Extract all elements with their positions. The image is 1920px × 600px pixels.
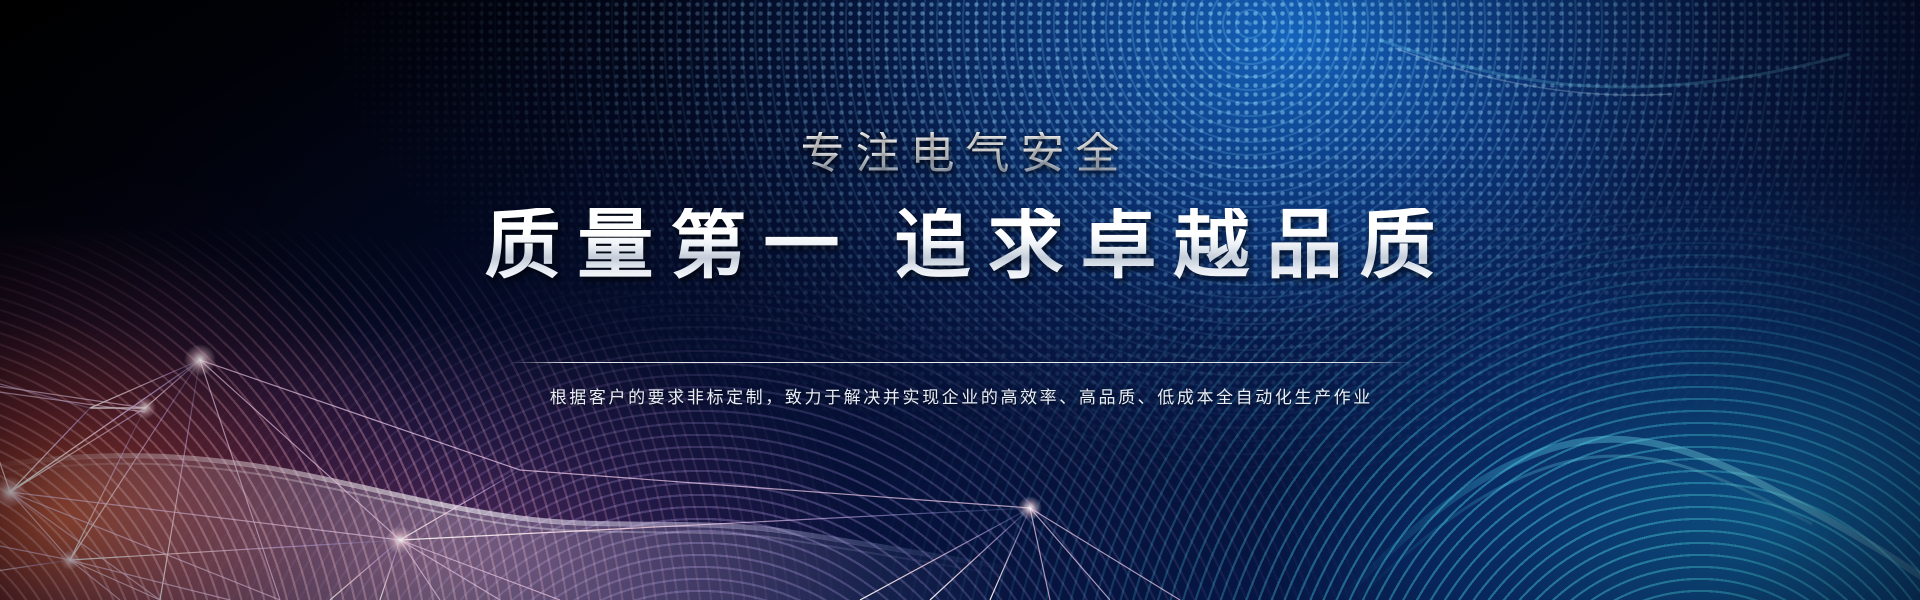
headline-divider	[512, 362, 1408, 363]
hero-banner: 专注电气安全 质量第一 追求卓越品质 根据客户的要求非标定制，致力于解决并实现企…	[0, 0, 1920, 600]
banner-subtitle: 根据客户的要求非标定制，致力于解决并实现企业的高效率、高品质、低成本全自动化生产…	[0, 386, 1920, 410]
banner-content: 专注电气安全 质量第一 追求卓越品质 根据客户的要求非标定制，致力于解决并实现企…	[0, 0, 1920, 600]
banner-headline: 质量第一 追求卓越品质	[0, 208, 1920, 284]
banner-tagline: 专注电气安全	[0, 132, 1920, 176]
